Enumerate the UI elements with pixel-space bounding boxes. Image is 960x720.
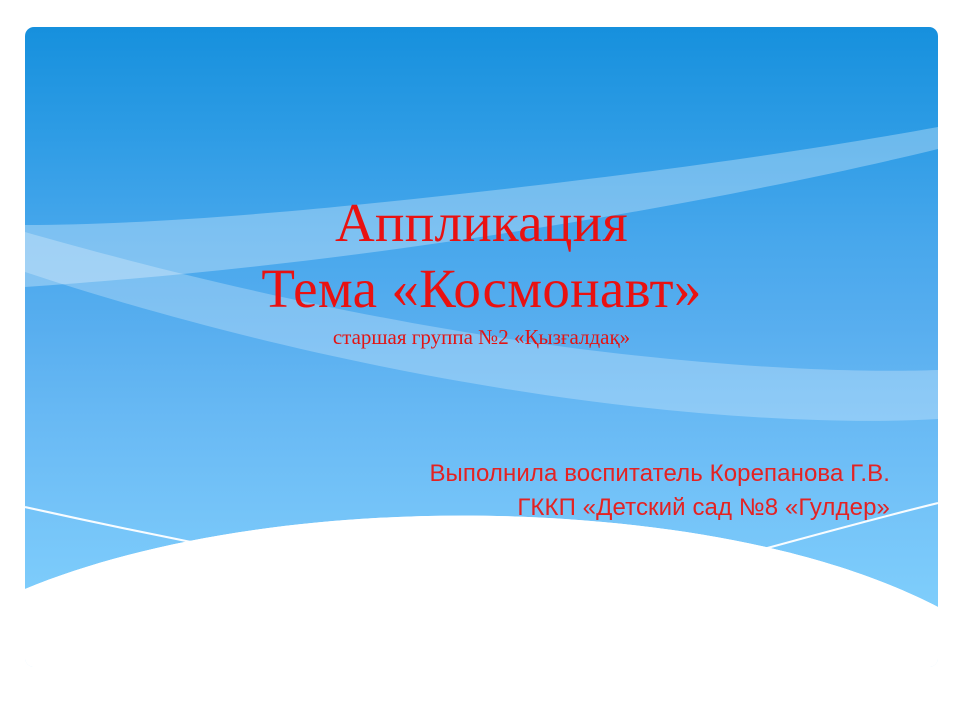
author-organisation-line: ГККП «Детский сад №8 «Гулдер»: [25, 491, 890, 525]
title-line-2: Тема «Космонавт»: [25, 261, 938, 320]
slide-title-block: Аппликация Тема «Космонавт» старшая груп…: [25, 195, 938, 348]
title-subtitle-group: старшая группа №2 «Қызғалдақ»: [25, 327, 938, 348]
slide-canvas: Аппликация Тема «Космонавт» старшая груп…: [25, 27, 938, 667]
author-name-line: Выполнила воспитатель Корепанова Г.В.: [25, 457, 890, 491]
presentation-slide: Аппликация Тема «Космонавт» старшая груп…: [0, 0, 960, 720]
slide-author-block: Выполнила воспитатель Корепанова Г.В. ГК…: [25, 457, 890, 525]
title-line-1: Аппликация: [25, 195, 938, 261]
